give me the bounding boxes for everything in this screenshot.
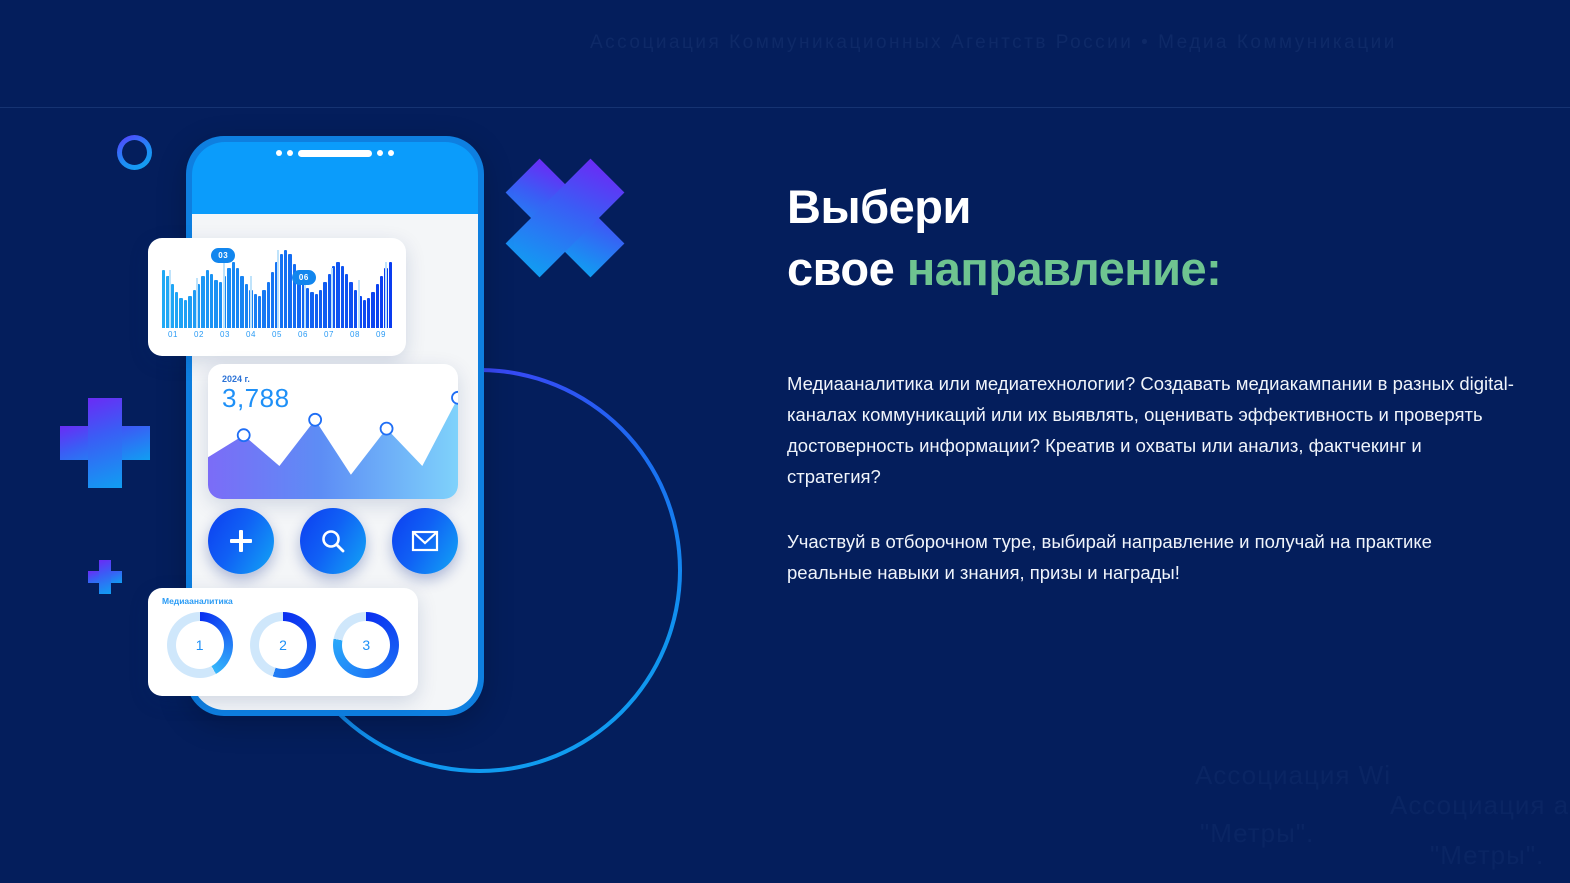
bar xyxy=(245,284,248,328)
bar-chart-plot: 0306 xyxy=(156,248,398,328)
bar xyxy=(254,294,257,328)
chart-tick xyxy=(304,282,306,328)
bar xyxy=(323,282,326,328)
data-point-marker xyxy=(238,429,250,441)
plus-decoration-small-icon xyxy=(88,560,122,594)
donut-chart-title: Медиааналитика xyxy=(158,596,408,606)
page-title: Выбери свое направление: xyxy=(787,176,1517,300)
bar xyxy=(345,274,348,328)
bar xyxy=(288,254,291,328)
quick-action-bar xyxy=(208,508,458,574)
bar xyxy=(236,268,239,328)
donut-chart-card[interactable]: Медиааналитика 123 xyxy=(148,588,418,696)
area-chart-plot xyxy=(208,389,458,499)
chart-annotation-badge: 06 xyxy=(292,270,316,285)
bar xyxy=(367,298,370,328)
bar xyxy=(354,290,357,328)
slide-canvas: Ассоциация Коммуникационных Агентств Рос… xyxy=(0,0,1570,883)
bar xyxy=(214,280,217,328)
donut-label: 2 xyxy=(250,612,316,678)
camera-dot-icon xyxy=(276,150,282,156)
speaker-bar-icon xyxy=(298,150,372,157)
bar xyxy=(206,270,209,328)
axis-tick-label: 08 xyxy=(342,330,368,339)
bar xyxy=(188,296,191,328)
chart-tick xyxy=(169,270,171,328)
title-line-2-white: свое xyxy=(787,242,907,295)
chart-tick xyxy=(358,280,360,328)
donut-chart[interactable]: 1 xyxy=(167,612,233,678)
bar xyxy=(284,250,287,328)
data-point-marker xyxy=(381,423,393,435)
bar xyxy=(162,270,165,328)
bar xyxy=(201,276,204,328)
donut-label: 1 xyxy=(167,612,233,678)
bar xyxy=(371,292,374,328)
bar xyxy=(210,274,213,328)
search-button[interactable] xyxy=(300,508,366,574)
axis-tick-label: 03 xyxy=(212,330,238,339)
donut-series: 123 xyxy=(158,612,408,678)
plus-icon xyxy=(226,526,256,556)
bar-chart-axis-labels: 010203040506070809 xyxy=(156,328,398,339)
area-fill xyxy=(208,398,458,499)
axis-tick-label: 09 xyxy=(368,330,394,339)
chart-tick xyxy=(223,258,225,328)
bar xyxy=(232,262,235,328)
camera-dot-icon xyxy=(287,150,293,156)
axis-tick-label: 01 xyxy=(160,330,186,339)
bar xyxy=(336,262,339,328)
watermark-bottom-line-1: Ассоциация Wi xyxy=(1195,760,1391,791)
bar xyxy=(349,282,352,328)
camera-dot-icon xyxy=(388,150,394,156)
bar xyxy=(240,276,243,328)
hero-paragraph-1: Медиааналитика или медиатехнологии? Созд… xyxy=(787,368,1517,492)
phone-mockup: 0306 010203040506070809 2024 г. 3,788 xyxy=(186,136,484,716)
data-point-marker xyxy=(309,414,321,426)
bar xyxy=(341,266,344,328)
donut-label: 3 xyxy=(333,612,399,678)
bar xyxy=(262,290,265,328)
cross-decoration-icon xyxy=(480,133,650,303)
bar xyxy=(184,300,187,328)
phone-notch xyxy=(276,142,394,164)
search-icon xyxy=(319,527,347,555)
hero-paragraph-2: Участвуй в отборочном туре, выбирай напр… xyxy=(787,526,1517,588)
bar xyxy=(310,292,313,328)
mail-button[interactable] xyxy=(392,508,458,574)
mail-icon xyxy=(411,529,439,553)
chart-tick xyxy=(277,250,279,328)
axis-tick-label: 06 xyxy=(290,330,316,339)
bar xyxy=(271,272,274,328)
bar xyxy=(267,282,270,328)
donut-chart[interactable]: 2 xyxy=(250,612,316,678)
data-point-marker xyxy=(452,392,458,404)
watermark-bottom-line-4: "Метры". xyxy=(1430,840,1544,871)
bar xyxy=(219,282,222,328)
add-button[interactable] xyxy=(208,508,274,574)
axis-tick-label: 07 xyxy=(316,330,342,339)
bar xyxy=(306,288,309,328)
bar xyxy=(380,276,383,328)
axis-tick-label: 05 xyxy=(264,330,290,339)
bar xyxy=(315,294,318,328)
bar xyxy=(363,300,366,328)
bar-chart-card[interactable]: 0306 010203040506070809 xyxy=(148,238,406,356)
chart-tick xyxy=(196,278,198,328)
chart-tick xyxy=(385,262,387,328)
hero-copy: Выбери свое направление: Медиааналитика … xyxy=(787,176,1517,588)
watermark-bottom-line-2: "Метры". xyxy=(1200,818,1314,849)
area-chart-card[interactable]: 2024 г. 3,788 xyxy=(208,364,458,499)
bar xyxy=(227,268,230,328)
title-line-1: Выбери xyxy=(787,180,971,233)
title-line-2-accent: направление: xyxy=(907,242,1222,295)
header-divider xyxy=(0,0,1570,108)
bar xyxy=(280,254,283,328)
bar xyxy=(175,292,178,328)
axis-tick-label: 02 xyxy=(186,330,212,339)
bar xyxy=(319,290,322,328)
camera-dot-icon xyxy=(377,150,383,156)
bar xyxy=(179,298,182,328)
bar xyxy=(389,262,392,328)
bar xyxy=(258,296,261,328)
plus-decoration-large-icon xyxy=(60,398,150,488)
bar xyxy=(376,284,379,328)
ring-decoration-icon xyxy=(117,135,152,170)
chart-annotation-badge: 03 xyxy=(211,248,235,263)
chart-tick xyxy=(331,268,333,328)
watermark-top-text: Ассоциация Коммуникационных Агентств Рос… xyxy=(590,32,1550,54)
axis-tick-label: 04 xyxy=(238,330,264,339)
watermark-bottom-line-3: Ассоциация активи xyxy=(1390,790,1570,821)
donut-chart[interactable]: 3 xyxy=(333,612,399,678)
chart-tick xyxy=(250,276,252,328)
